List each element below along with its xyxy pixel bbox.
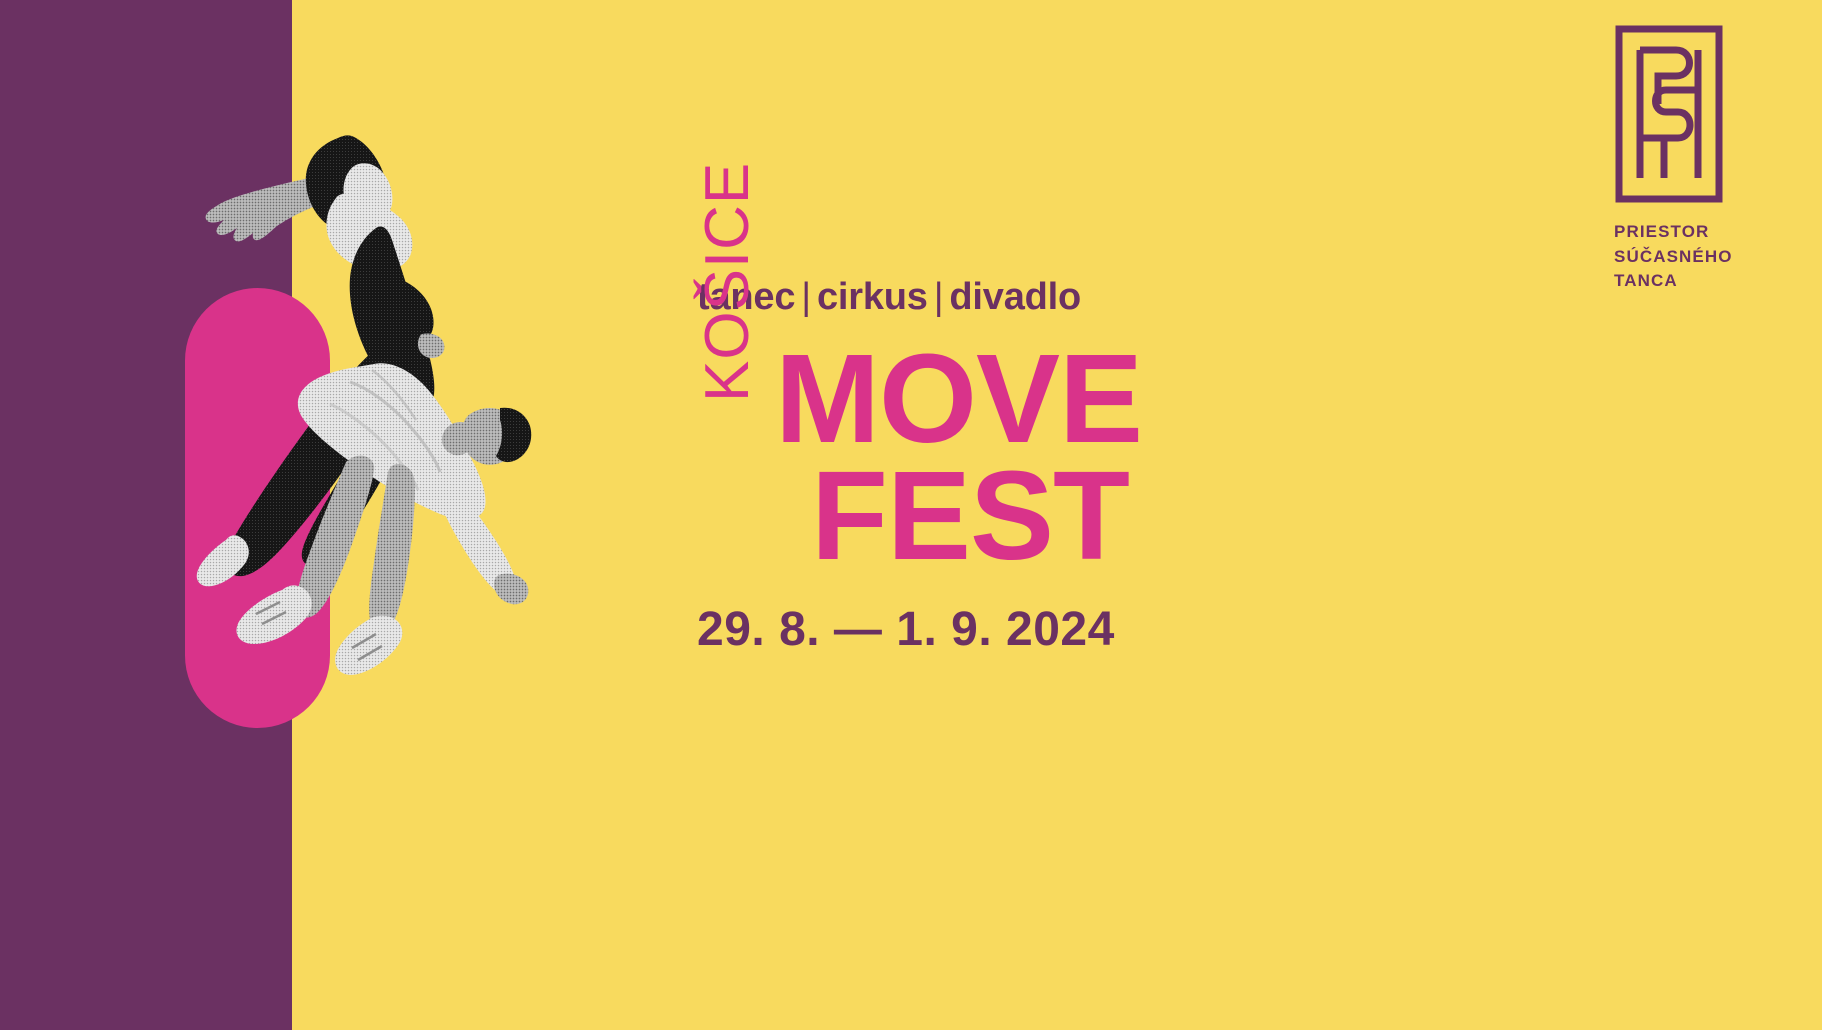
- festival-city-vertical: KOŠICE: [697, 162, 759, 402]
- organizer-name: PRIESTOR SÚČASNÉHO TANCA: [1614, 220, 1804, 294]
- organizer-line-2: SÚČASNÉHO: [1614, 245, 1804, 270]
- headline-block: tanec|cirkus|divadlo KOŠICE MOVE FEST 29…: [697, 278, 1397, 657]
- tagline-item-cirkus: cirkus: [817, 276, 928, 318]
- festival-word-move: MOVE: [775, 340, 1397, 457]
- poster-canvas: tanec|cirkus|divadlo KOŠICE MOVE FEST 29…: [0, 0, 1822, 1030]
- festival-word-fest: FEST: [811, 457, 1397, 574]
- tagline-separator-2: |: [928, 276, 950, 318]
- tagline-item-divadlo: divadlo: [949, 276, 1081, 318]
- pst-monogram-icon: [1614, 24, 1724, 204]
- tagline: tanec|cirkus|divadlo: [697, 278, 1397, 316]
- organizer-line-1: PRIESTOR: [1614, 220, 1804, 245]
- organizer-line-3: TANCA: [1614, 269, 1804, 294]
- festival-name: MOVE FEST: [775, 340, 1397, 574]
- festival-title: KOŠICE MOVE FEST: [697, 340, 1397, 574]
- tagline-separator-1: |: [795, 276, 817, 318]
- pink-capsule-shape: [185, 288, 330, 728]
- organizer-logo-block: PRIESTOR SÚČASNÉHO TANCA: [1614, 24, 1804, 294]
- festival-dates: 29. 8. — 1. 9. 2024: [697, 602, 1397, 657]
